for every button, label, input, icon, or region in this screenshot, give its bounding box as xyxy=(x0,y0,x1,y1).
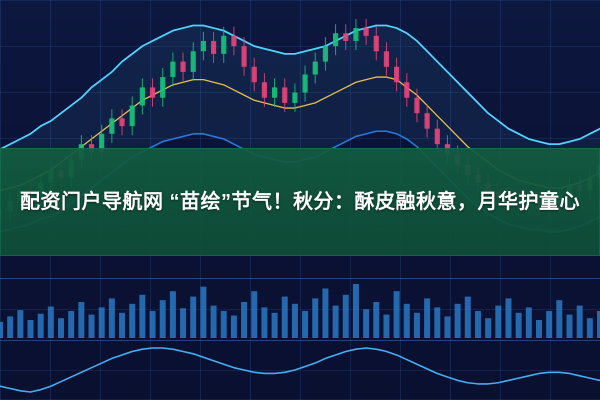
indicator-series-layer xyxy=(0,340,600,400)
indicator-panel xyxy=(0,340,600,400)
chart-screenshot: 配资门户导航网 “苗绘”节气！秋分：酥皮融秋意，月华护童心 xyxy=(0,0,600,400)
volume-series-layer xyxy=(0,278,600,340)
headline-banner: 配资门户导航网 “苗绘”节气！秋分：酥皮融秋意，月华护童心 xyxy=(0,148,600,256)
headline-text: 配资门户导航网 “苗绘”节气！秋分：酥皮融秋意，月华护童心 xyxy=(6,185,594,219)
volume-panel xyxy=(0,278,600,340)
